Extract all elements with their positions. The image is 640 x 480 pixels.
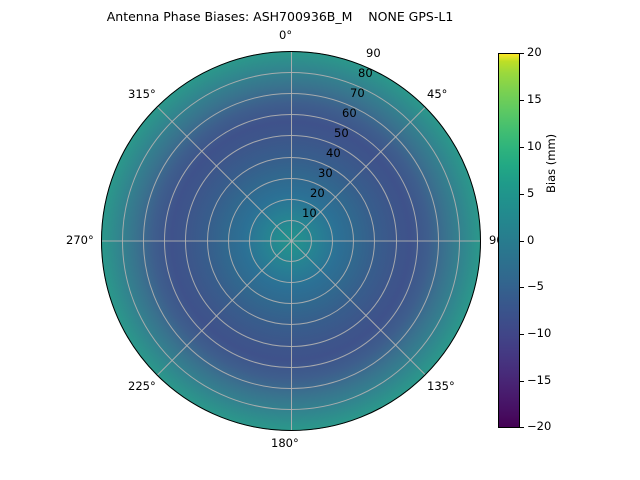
chart-title: Antenna Phase Biases: ASH700936B_M NONE … xyxy=(0,9,560,25)
polar-data-region xyxy=(101,51,481,431)
colorbar-ticklabel-m10: −10 xyxy=(527,327,551,340)
colorbar-axis-label: Bias (mm) xyxy=(544,134,558,193)
r-label-20: 20 xyxy=(310,187,325,200)
colorbar-ticklabel-m15: −15 xyxy=(527,374,551,387)
colorbar-ticklabel-m20: −20 xyxy=(527,420,551,433)
colorbar-tick-0 xyxy=(520,241,524,242)
theta-label-180: 180° xyxy=(271,437,299,450)
colorbar-tick-m20 xyxy=(520,427,524,428)
theta-label-270: 270° xyxy=(66,234,94,247)
r-label-10: 10 xyxy=(302,207,317,220)
theta-label-315: 315° xyxy=(128,88,156,101)
colorbar-ticklabel-15: 15 xyxy=(527,93,542,106)
theta-label-0: 0° xyxy=(279,29,292,42)
colorbar-ticklabel-20: 20 xyxy=(527,46,542,59)
colorbar-axes[interactable]: 20 15 10 5 0 −5 −10 −15 −20 Bias (mm) xyxy=(498,53,618,429)
r-label-60: 60 xyxy=(342,107,357,120)
colorbar-ticklabel-m5: −5 xyxy=(527,280,544,293)
colorbar-gradient[interactable] xyxy=(498,53,520,428)
theta-label-45: 45° xyxy=(427,88,447,101)
polar-axes[interactable]: 0° 45° 90 135° 180° 225° 270° 315° 10 20… xyxy=(101,51,481,431)
colorbar-ticklabel-10: 10 xyxy=(527,140,542,153)
colorbar-ticklabel-0: 0 xyxy=(527,234,534,247)
r-label-40: 40 xyxy=(326,147,341,160)
theta-label-135: 135° xyxy=(427,380,455,393)
colorbar-tick-m5 xyxy=(520,287,524,288)
colorbar-tick-m10 xyxy=(520,334,524,335)
r-label-90: 90 xyxy=(366,47,381,60)
theta-label-225: 225° xyxy=(128,380,156,393)
matplotlib-figure: Antenna Phase Biases: ASH700936B_M NONE … xyxy=(0,0,640,480)
r-label-80: 80 xyxy=(358,67,373,80)
colorbar-tick-m15 xyxy=(520,381,524,382)
colorbar-tick-5 xyxy=(520,194,524,195)
colorbar-tick-15 xyxy=(520,100,524,101)
r-label-30: 30 xyxy=(318,167,333,180)
r-label-70: 70 xyxy=(350,87,365,100)
colorbar-ticklabel-5: 5 xyxy=(527,187,534,200)
r-label-50: 50 xyxy=(334,127,349,140)
polar-heatmap-field xyxy=(101,51,481,431)
colorbar-tick-20 xyxy=(520,53,524,54)
colorbar-tick-10 xyxy=(520,147,524,148)
